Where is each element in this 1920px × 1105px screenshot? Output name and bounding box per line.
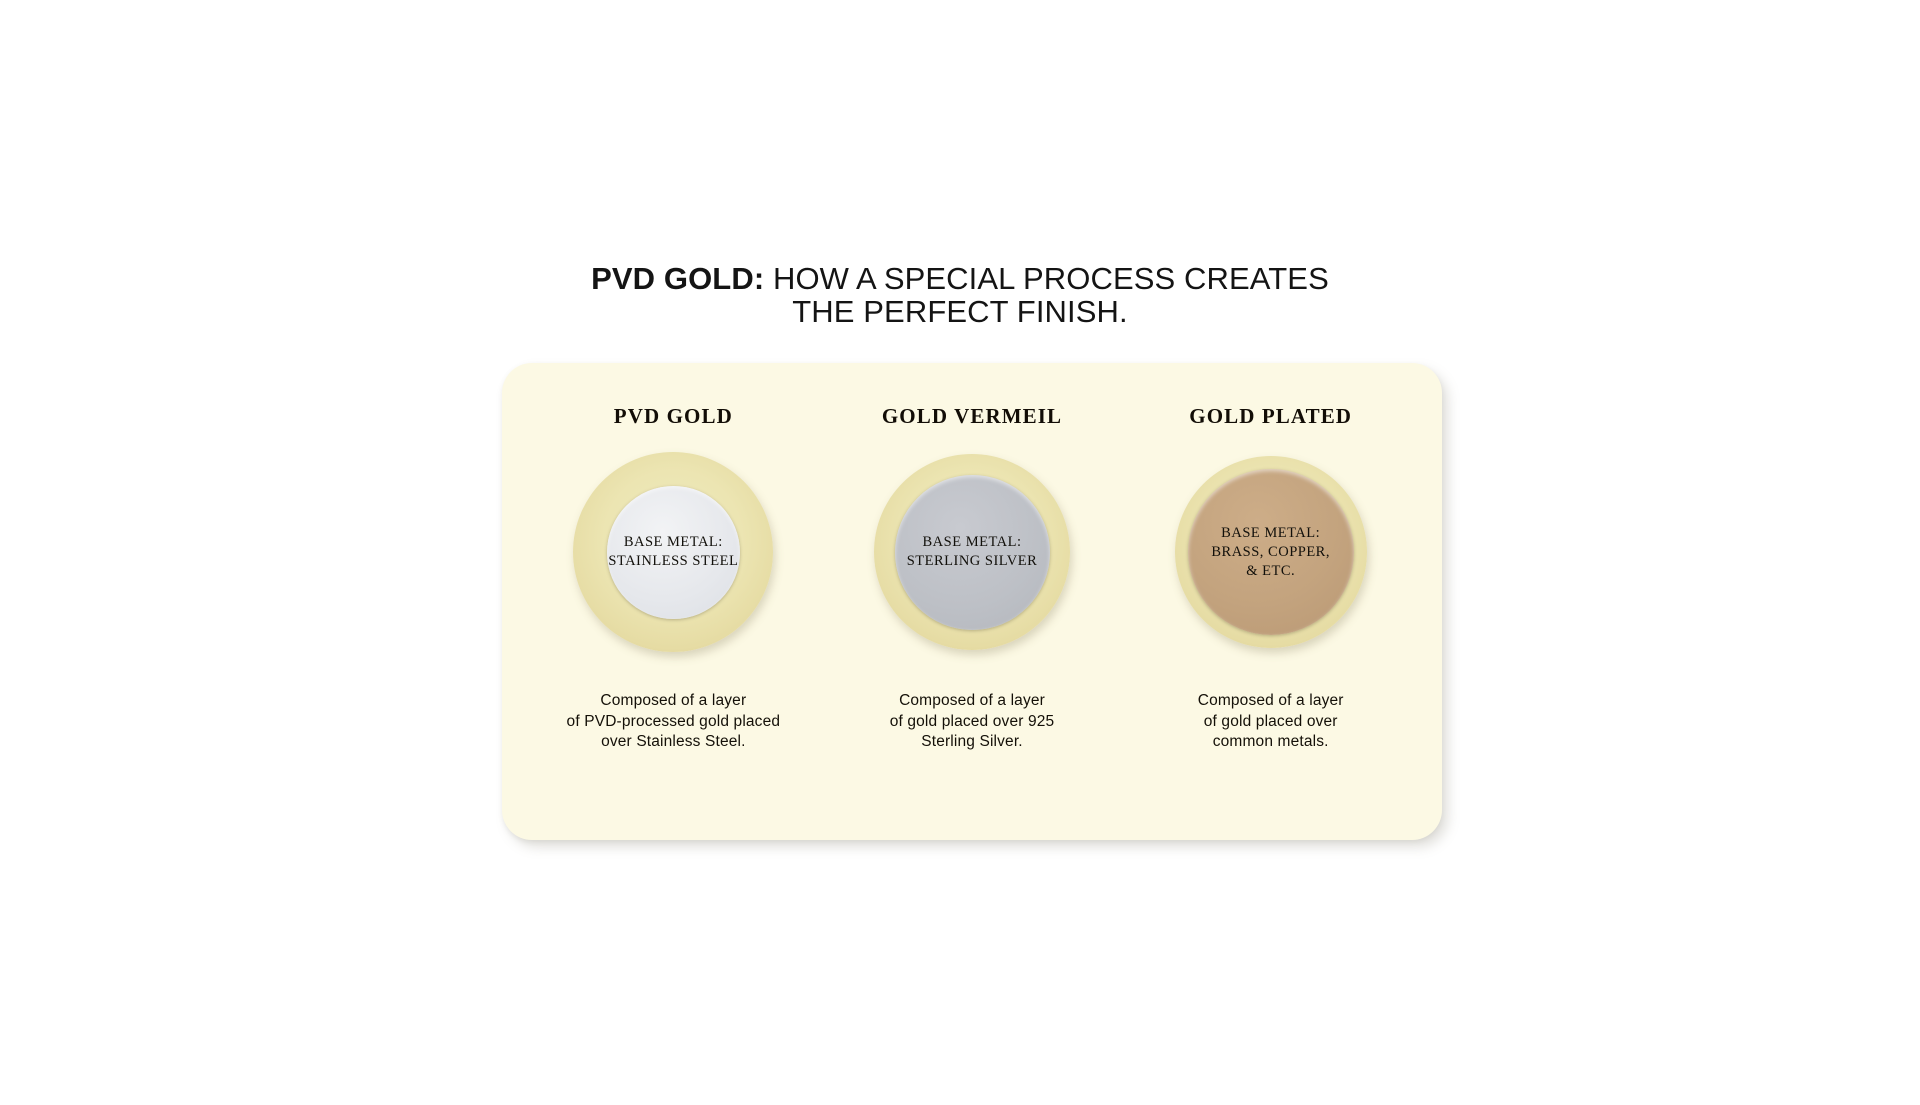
layer-diagram-gold-plated: BASE METAL: BRASS, COPPER, & ETC.	[1151, 441, 1391, 663]
caption-line-1: Composed of a layer	[890, 691, 1055, 712]
caption-line-2: of gold placed over	[1198, 712, 1344, 733]
caption-line-3: over Stainless Steel.	[567, 732, 781, 753]
infographic-stage: PVD GOLD: HOW A SPECIAL PROCESS CREATES …	[0, 0, 1920, 1105]
column-gold-vermeil: GOLD VERMEIL BASE METAL: STERLING SILVER…	[823, 363, 1122, 753]
base-metal-label-line-2: BRASS, COPPER,	[1211, 543, 1330, 562]
base-metal-label-line-3: & ETC.	[1211, 562, 1330, 581]
caption-line-3: common metals.	[1198, 732, 1344, 753]
caption-line-2: of PVD-processed gold placed	[567, 712, 781, 733]
title-remainder: HOW A SPECIAL PROCESS CREATES	[764, 261, 1329, 296]
caption-line-1: Composed of a layer	[567, 691, 781, 712]
column-caption: Composed of a layer of gold placed over …	[1198, 691, 1344, 753]
column-pvd-gold: PVD GOLD BASE METAL: STAINLESS STEEL Com…	[524, 363, 823, 753]
title-line-2: THE PERFECT FINISH.	[0, 295, 1920, 328]
column-heading: PVD GOLD	[614, 404, 733, 429]
caption-line-3: Sterling Silver.	[890, 732, 1055, 753]
base-metal-label-line-1: BASE METAL:	[907, 533, 1038, 552]
base-metal-disc: BASE METAL: STERLING SILVER	[895, 475, 1050, 630]
base-metal-label-line-1: BASE METAL:	[1211, 524, 1330, 543]
base-metal-label-line-2: STERLING SILVER	[907, 552, 1038, 571]
layer-diagram-gold-vermeil: BASE METAL: STERLING SILVER	[852, 441, 1092, 663]
caption-line-2: of gold placed over 925	[890, 712, 1055, 733]
base-metal-label-line-1: BASE METAL:	[608, 533, 738, 552]
title-line-1: PVD GOLD: HOW A SPECIAL PROCESS CREATES	[0, 262, 1920, 295]
base-metal-disc: BASE METAL: STAINLESS STEEL	[607, 486, 740, 619]
caption-line-1: Composed of a layer	[1198, 691, 1344, 712]
column-caption: Composed of a layer of PVD-processed gol…	[567, 691, 781, 753]
column-heading: GOLD PLATED	[1189, 404, 1352, 429]
column-caption: Composed of a layer of gold placed over …	[890, 691, 1055, 753]
comparison-columns: PVD GOLD BASE METAL: STAINLESS STEEL Com…	[502, 363, 1442, 840]
title-emphasis: PVD GOLD:	[591, 261, 764, 296]
layer-diagram-pvd-gold: BASE METAL: STAINLESS STEEL	[553, 441, 793, 663]
column-heading: GOLD VERMEIL	[882, 404, 1062, 429]
base-metal-label-line-2: STAINLESS STEEL	[608, 552, 738, 571]
column-gold-plated: GOLD PLATED BASE METAL: BRASS, COPPER, &…	[1121, 363, 1420, 753]
base-metal-disc: BASE METAL: BRASS, COPPER, & ETC.	[1188, 469, 1354, 635]
page-title: PVD GOLD: HOW A SPECIAL PROCESS CREATES …	[0, 262, 1920, 328]
